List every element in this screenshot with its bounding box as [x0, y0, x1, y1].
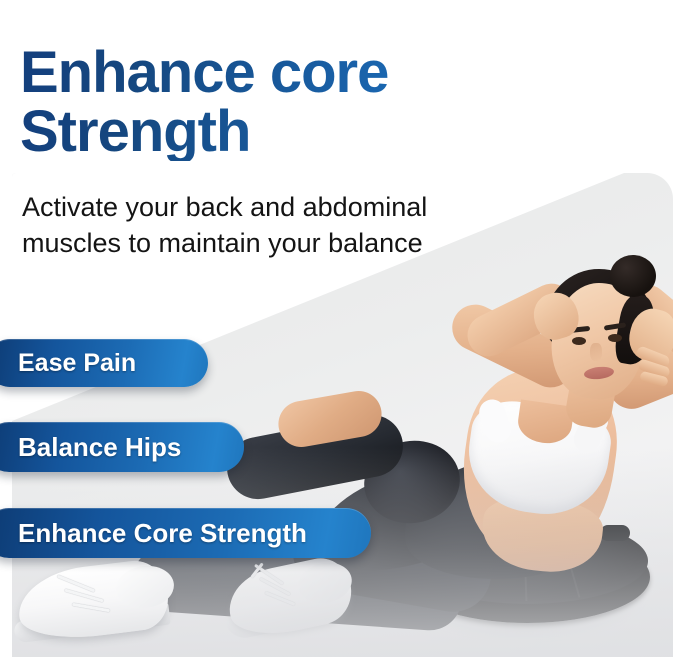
subtitle-line-1: Activate your back and abdominal [22, 190, 542, 226]
nose [590, 343, 602, 361]
badge-ease-pain: Ease Pain [0, 339, 208, 387]
subtitle: Activate your back and abdominal muscles… [22, 190, 542, 262]
badge-label: Enhance Core Strength [18, 518, 307, 549]
badge-balance-hips: Balance Hips [0, 422, 244, 472]
badge-enhance-core-strength: Enhance Core Strength [0, 508, 371, 558]
page-title: Enhance core Strength [20, 43, 640, 161]
headline-line-1: Enhance core [20, 40, 388, 105]
subtitle-line-2: muscles to maintain your balance [22, 226, 542, 262]
badge-label: Balance Hips [18, 432, 181, 463]
headline-line-2: Strength [20, 102, 640, 161]
eye-right [608, 334, 622, 342]
eye-left [572, 337, 586, 345]
hair-bun [610, 255, 656, 297]
badge-label: Ease Pain [18, 349, 136, 378]
product-feature-poster: Enhance core Strength Activate your back… [0, 0, 679, 657]
